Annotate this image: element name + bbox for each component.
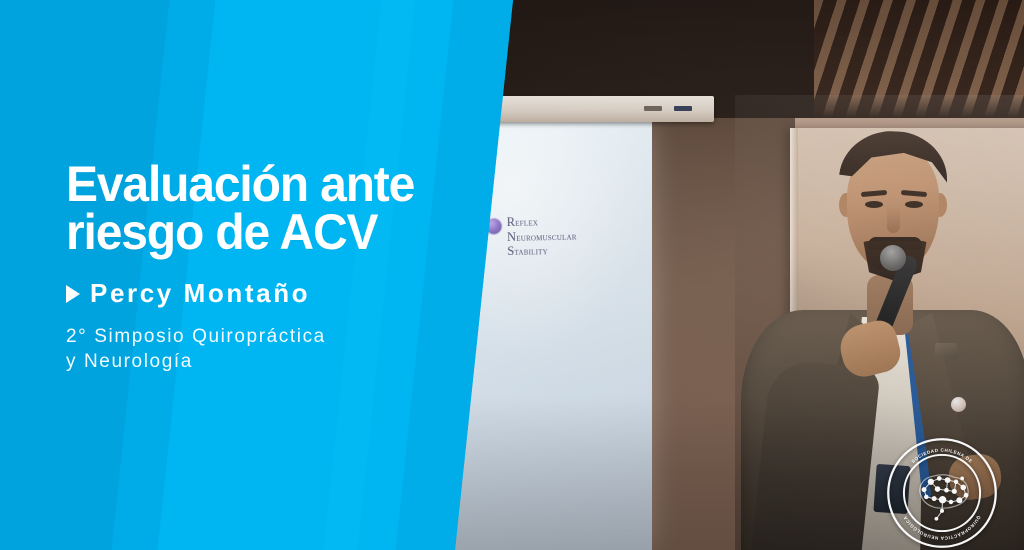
eye-right	[905, 201, 923, 208]
play-triangle-icon	[66, 285, 80, 303]
event-subtitle: 2° Simposio Quiropráctica y Neurología	[66, 325, 496, 374]
lapel-pin-icon	[951, 397, 966, 412]
page-title: Evaluación ante riesgo de ACV	[66, 160, 479, 256]
title-block: Evaluación ante riesgo de ACV Percy Mont…	[66, 160, 496, 374]
speaker-name: Percy Montaño	[90, 278, 310, 309]
organization-seal: SOCIEDAD CHILENA DE QUIROPRÁCTICA NEUROL…	[886, 437, 998, 549]
housing-marking-right	[674, 106, 692, 111]
slide-logo-line-3: Stability	[507, 243, 577, 259]
speaker-line: Percy Montaño	[66, 278, 496, 309]
housing-marking-left	[644, 106, 662, 111]
brain-network-icon	[920, 475, 969, 521]
slide-logo-line-2: Neuromuscular	[507, 228, 577, 244]
slide-logo-line-1: Reflex	[507, 214, 577, 230]
nose	[887, 207, 900, 233]
slide-canvas: Reflex Neuromuscular Stability	[0, 0, 1024, 550]
blazer-pocket	[935, 343, 957, 359]
projected-slide-logo: Reflex Neuromuscular Stability	[486, 213, 627, 260]
eye-left	[865, 201, 883, 208]
